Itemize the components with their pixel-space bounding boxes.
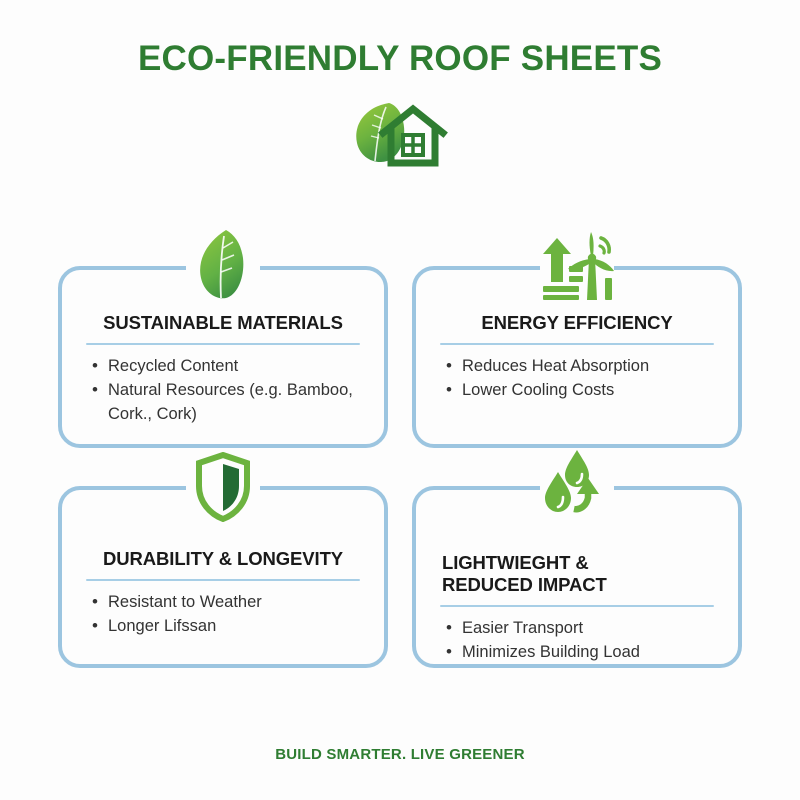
list-item: Easier Transport <box>446 617 716 640</box>
card-title: SUSTAINABLE MATERIALS <box>84 312 362 334</box>
card-body: ENERGY EFFICIENCY Reduces Heat Absorptio… <box>416 312 738 404</box>
card-bullet-list: Recycled Content Natural Resources (e.g.… <box>84 355 362 426</box>
leaf-house-icon <box>0 95 800 177</box>
list-item: Minimizes Building Load <box>446 641 716 664</box>
title-divider <box>440 605 714 607</box>
title-divider <box>86 343 360 345</box>
header: ECO-FRIENDLY ROOF SHEETS <box>0 0 800 177</box>
card-title-line-1: LIGHTWIEGHT & <box>442 552 589 573</box>
footer-tagline: BUILD SMARTER. LIVE GREENER <box>275 746 525 763</box>
card-bullet-list: Reduces Heat Absorption Lower Cooling Co… <box>438 355 716 403</box>
card-title-line-2: REDUCED IMPACT <box>442 574 607 595</box>
card-energy-efficiency[interactable]: ENERGY EFFICIENCY Reduces Heat Absorptio… <box>412 266 742 448</box>
energy-arrow-turbine-icon <box>539 226 615 302</box>
card-bullet-list: Easier Transport Minimizes Building Load <box>438 617 716 665</box>
footer: BUILD SMARTER. LIVE GREENER <box>0 746 800 764</box>
card-bullet-list: Resistant to Weather Longer Lifssan <box>84 591 362 639</box>
card-title: DURABILITY & LONGEVITY <box>84 548 362 570</box>
list-item: Longer Lifssan <box>92 615 362 638</box>
card-body: SUSTAINABLE MATERIALS Recycled Content N… <box>62 312 384 427</box>
card-title: ENERGY EFFICIENCY <box>438 312 716 334</box>
card-durability-longevity[interactable]: DURABILITY & LONGEVITY Resistant to Weat… <box>58 486 388 668</box>
title-divider <box>440 343 714 345</box>
list-item: Recycled Content <box>92 355 362 378</box>
leaf-icon <box>185 226 261 302</box>
card-lightweight-reduced-impact[interactable]: LIGHTWIEGHT & REDUCED IMPACT Easier Tran… <box>412 486 742 668</box>
card-title: LIGHTWIEGHT & REDUCED IMPACT <box>438 552 716 596</box>
list-item: Natural Resources (e.g. Bamboo, Cork., C… <box>92 379 362 426</box>
page-title: ECO-FRIENDLY ROOF SHEETS <box>0 40 800 79</box>
infographic-root: ECO-FRIENDLY ROOF SHEETS <box>0 0 800 800</box>
card-sustainable-materials[interactable]: SUSTAINABLE MATERIALS Recycled Content N… <box>58 266 388 448</box>
card-body: LIGHTWIEGHT & REDUCED IMPACT Easier Tran… <box>416 552 738 666</box>
list-item: Lower Cooling Costs <box>446 379 716 402</box>
title-divider <box>86 579 360 581</box>
card-body: DURABILITY & LONGEVITY Resistant to Weat… <box>62 548 384 640</box>
water-droplets-recycle-icon <box>539 446 615 522</box>
shield-icon <box>185 446 261 522</box>
list-item: Resistant to Weather <box>92 591 362 614</box>
feature-cards-grid: SUSTAINABLE MATERIALS Recycled Content N… <box>58 266 742 668</box>
list-item: Reduces Heat Absorption <box>446 355 716 378</box>
